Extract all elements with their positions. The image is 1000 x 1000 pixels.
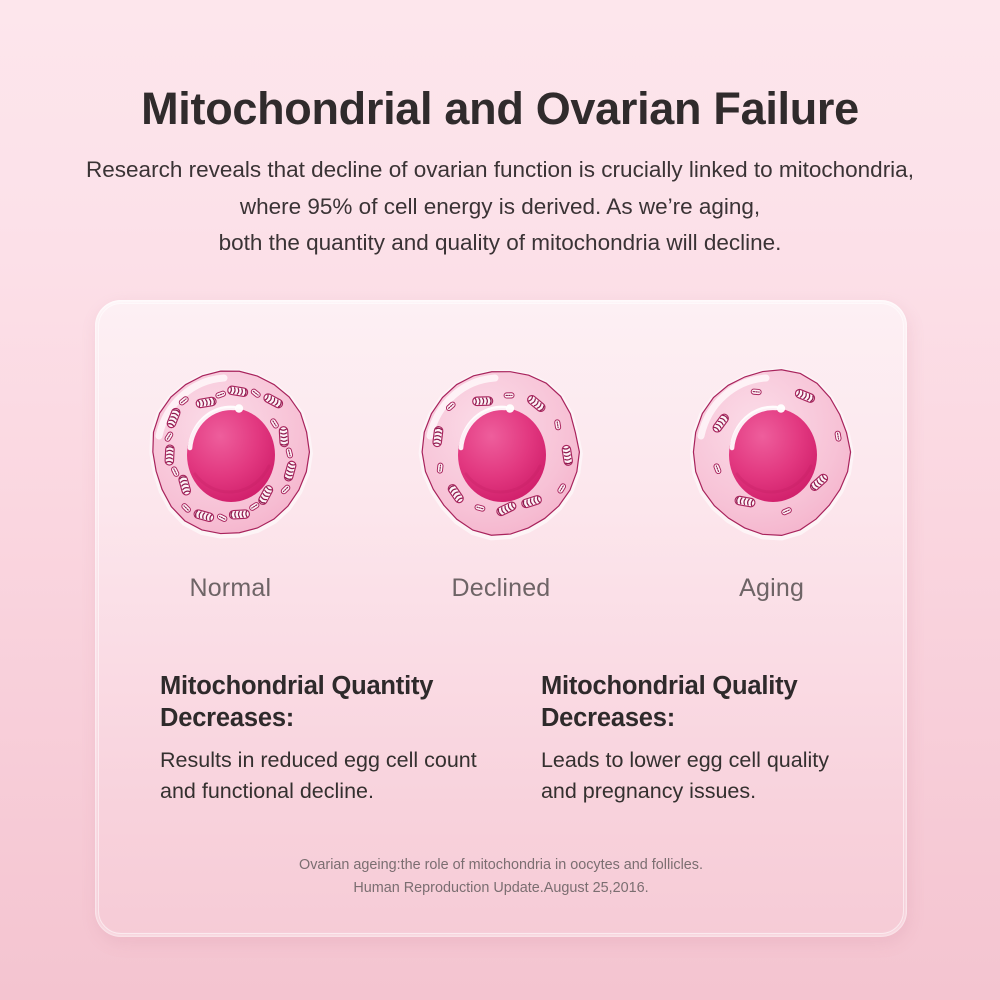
cell-column-aging: Aging bbox=[652, 352, 892, 603]
egg-cell-icon-aging bbox=[672, 352, 872, 552]
cell-column-normal: Normal bbox=[110, 352, 350, 603]
info-row: Mitochondrial Quantity Decreases: Result… bbox=[160, 670, 860, 807]
egg-cell-icon-declined bbox=[401, 352, 601, 552]
cell-label-aging: Aging bbox=[739, 574, 804, 603]
info-column-quality: Mitochondrial Quality Decreases: Leads t… bbox=[541, 670, 860, 807]
info-column-quantity: Mitochondrial Quantity Decreases: Result… bbox=[160, 670, 541, 807]
subtitle-line-2: where 95% of cell energy is derived. As … bbox=[0, 189, 1000, 225]
cell-diagram-row: Normal Declined Aging bbox=[95, 352, 907, 602]
info-body-quantity: Results in reduced egg cell count and fu… bbox=[160, 745, 511, 807]
citation: Ovarian ageing:the role of mitochondria … bbox=[95, 854, 907, 899]
info-body-quality: Leads to lower egg cell quality and preg… bbox=[541, 745, 860, 807]
subtitle-line-3: both the quantity and quality of mitocho… bbox=[0, 225, 1000, 261]
header: Mitochondrial and Ovarian Failure Resear… bbox=[0, 84, 1000, 262]
info-heading-quantity: Mitochondrial Quantity Decreases: bbox=[160, 670, 511, 735]
cell-column-declined: Declined bbox=[381, 352, 621, 603]
subtitle-line-1: Research reveals that decline of ovarian… bbox=[0, 152, 1000, 188]
citation-line-1: Ovarian ageing:the role of mitochondria … bbox=[95, 854, 907, 876]
diagram-card: Normal Declined Aging Mitochondrial Quan… bbox=[95, 300, 907, 937]
info-heading-quality: Mitochondrial Quality Decreases: bbox=[541, 670, 860, 735]
cell-label-normal: Normal bbox=[189, 574, 271, 603]
page-title: Mitochondrial and Ovarian Failure bbox=[0, 84, 1000, 134]
citation-line-2: Human Reproduction Update.August 25,2016… bbox=[95, 877, 907, 899]
cell-label-declined: Declined bbox=[452, 574, 551, 603]
egg-cell-icon-normal bbox=[130, 352, 330, 552]
subtitle: Research reveals that decline of ovarian… bbox=[0, 152, 1000, 261]
